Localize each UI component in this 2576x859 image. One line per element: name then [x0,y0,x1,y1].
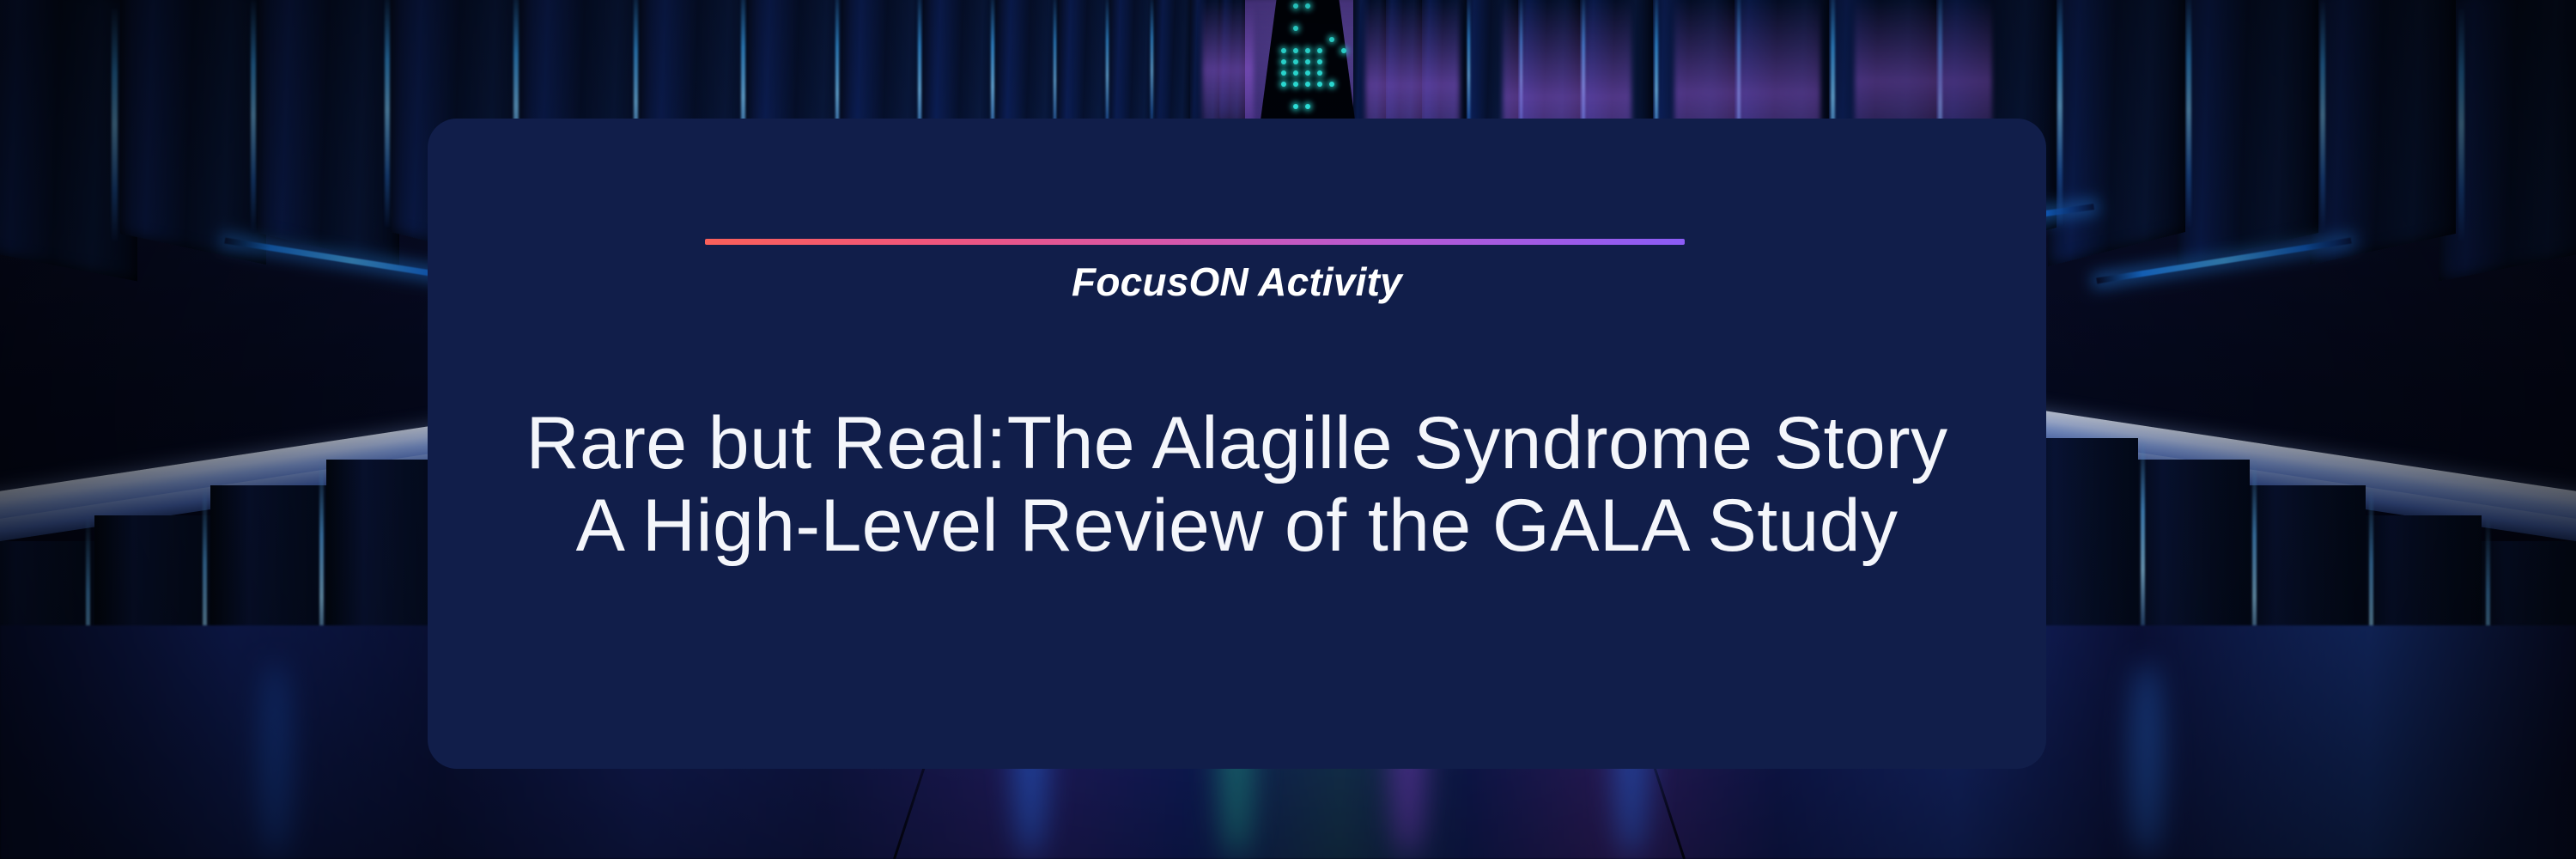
matrix-dot [1305,70,1310,76]
matrix-dot [1305,104,1310,109]
floor-reflection [2129,661,2164,859]
matrix-dot [1317,59,1322,64]
matrix-dot [1293,3,1298,9]
matrix-dot [1281,70,1286,76]
matrix-dot [1293,59,1298,64]
matrix-dot [1329,37,1334,42]
matrix-dot [1329,82,1334,87]
matrix-dot [1281,82,1286,87]
slab-edge-glow [2458,9,2464,241]
wall-slab-left [120,0,266,265]
eyebrow-label: FocusON Activity [428,259,2046,305]
hero-banner: FocusON Activity Rare but Real:The Alagi… [0,0,2576,859]
matrix-dot [1293,48,1298,53]
matrix-dot [1341,48,1346,53]
matrix-dot [1305,82,1310,87]
gradient-divider [705,239,1685,245]
matrix-dot [1293,70,1298,76]
slab-edge-glow [251,0,256,230]
matrix-dot [1305,59,1310,64]
wall-slab-right [2048,0,2185,266]
slab-edge-glow [2320,0,2325,230]
wall-slab-right [2310,0,2456,265]
page-title: Rare but Real:The Alagille Syndrome Stor… [428,402,2046,568]
matrix-dot [1317,70,1322,76]
matrix-dot [1281,59,1286,64]
matrix-dot [1293,104,1298,109]
slab-edge-glow [2186,0,2191,227]
matrix-dot [1281,48,1286,53]
matrix-dot [1305,3,1310,9]
title-line-1: Rare but Real:The Alagille Syndrome Stor… [428,402,2046,484]
wall-slab-left [258,0,399,265]
floor-reflection [258,661,292,859]
slab-edge-glow [112,9,118,241]
slab-edge-glow [385,0,390,227]
title-card: FocusON Activity Rare but Real:The Alagi… [428,119,2046,769]
wall-slab-right [2177,0,2318,265]
matrix-dot [1293,82,1298,87]
matrix-dot [1317,48,1322,53]
slab-edge-glow [2057,0,2063,225]
matrix-dot [1305,48,1310,53]
title-line-2: A High-Level Review of the GALA Study [428,484,2046,567]
cyan-dot-matrix-icon [1261,0,1355,129]
matrix-dot [1317,82,1322,87]
matrix-dot [1293,26,1298,31]
